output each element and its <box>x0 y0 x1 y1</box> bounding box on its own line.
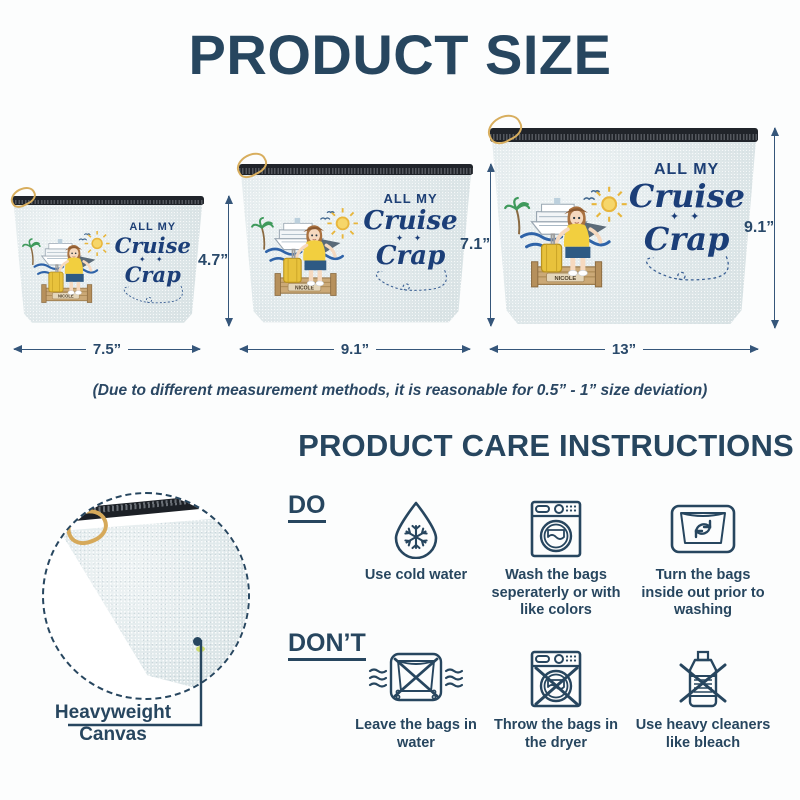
swirl-flourish-icon <box>119 285 187 305</box>
slogan-line-crap: Crap <box>360 243 461 269</box>
dimension-width-medium-label: 9.1” <box>334 341 376 358</box>
product-bag-large: NICOLE <box>484 128 764 326</box>
dimension-arrow-left <box>14 349 86 350</box>
sun-icon <box>85 231 110 256</box>
bag-large-graphic: NICOLE <box>484 128 764 326</box>
zipper-tape-icon <box>490 128 759 142</box>
dimension-arrow-left <box>240 349 334 350</box>
slogan-line-crap: Crap <box>111 264 194 285</box>
bleach-bottle-crossed-icon <box>634 648 772 710</box>
care-do-item-1: Use cold water <box>347 498 485 585</box>
dimension-arrow-right <box>376 349 470 350</box>
dimension-width-small-label: 7.5” <box>86 341 128 358</box>
dimension-height-small-label: 4.7” <box>198 252 228 270</box>
bag-print-design: NICOLE <box>504 156 745 303</box>
palm-tree-icon <box>23 239 40 265</box>
fabric-label: Heavyweight Canvas <box>38 702 188 746</box>
bag-slogan: ALL MY Cruise ✦ ✦ Crap <box>629 162 745 283</box>
palm-tree-icon <box>252 218 273 250</box>
care-dont-caption-2: Throw the bags in the dryer <box>487 717 625 752</box>
bag-print-design: NICOLE <box>251 186 461 304</box>
dimension-width-large-label: 13” <box>605 341 643 358</box>
dock-name-plate: NICOLE <box>295 286 315 292</box>
bag-slogan: ALL MY Cruise ✦ ✦ Crap <box>360 191 461 293</box>
fabric-label-line1: Heavyweight <box>55 702 171 723</box>
swirl-flourish-icon <box>369 269 453 293</box>
care-dont-item-3: Use heavy cleaners like bleach <box>634 648 772 752</box>
turn-inside-out-icon <box>634 498 772 560</box>
bag-medium-graphic: NICOLE <box>234 164 478 324</box>
sun-icon <box>591 186 626 221</box>
bag-in-water-crossed-icon <box>347 648 485 710</box>
slogan-line-cruise: Cruise <box>111 235 194 256</box>
care-do-caption-1: Use cold water <box>347 567 485 585</box>
dimension-width-medium: 9.1” <box>240 340 470 358</box>
swirl-flourish-icon <box>637 255 737 283</box>
cruise-scene-art: NICOLE <box>504 156 629 303</box>
care-do-caption-2: Wash the bags seperaterly or with like c… <box>487 567 625 620</box>
product-bag-small: NICOLE <box>8 196 208 324</box>
care-dont-caption-1: Leave the bags in water <box>347 717 485 752</box>
dimension-height-large-label: 9.1” <box>744 219 774 237</box>
section-title-care-instructions: PRODUCT CARE INSTRUCTIONS <box>292 428 800 464</box>
washing-machine-icon <box>487 498 625 560</box>
care-heading-do: DO <box>288 492 326 523</box>
product-bag-medium: NICOLE <box>234 164 478 324</box>
palm-tree-icon <box>505 198 529 234</box>
bag-print-design: NICOLE <box>22 214 194 309</box>
care-do-item-3: Turn the bags inside out prior to washin… <box>634 498 772 620</box>
care-do-item-2: Wash the bags seperaterly or with like c… <box>487 498 625 620</box>
dimension-arrow-left <box>490 349 605 350</box>
bag-slogan: ALL MY Cruise ✦ ✦ Crap <box>111 218 194 305</box>
dimension-width-small: 7.5” <box>14 340 200 358</box>
page-title-product-size: PRODUCT SIZE <box>0 22 800 87</box>
cruise-scene-art: NICOLE <box>251 186 360 304</box>
slogan-line-all-my: ALL MY <box>383 191 437 206</box>
cruise-scene-art: NICOLE <box>22 214 111 309</box>
dock-name-plate: NICOLE <box>554 276 576 282</box>
size-deviation-disclaimer: (Due to different measurement methods, i… <box>0 382 800 400</box>
zipper-tape-icon <box>239 164 473 175</box>
product-infographic: PRODUCT SIZE <box>0 0 800 800</box>
dimension-arrow-right <box>643 349 758 350</box>
dimension-width-large: 13” <box>490 340 758 358</box>
care-do-caption-3: Turn the bags inside out prior to washin… <box>634 567 772 620</box>
dimension-arrow-right <box>128 349 200 350</box>
slogan-line-all-my: ALL MY <box>129 221 176 233</box>
dryer-crossed-icon <box>487 648 625 710</box>
care-dont-item-1: Leave the bags in water <box>347 648 485 752</box>
fabric-label-line2: Canvas <box>79 724 147 745</box>
dimension-arrow-vertical <box>774 128 792 328</box>
zipper-tape-icon <box>12 196 204 205</box>
dimension-height-large: 9.1” <box>744 128 796 328</box>
fabric-leader-dot <box>193 637 202 646</box>
bag-small-graphic: NICOLE <box>8 196 208 324</box>
water-drop-snowflake-icon <box>347 498 485 560</box>
slogan-line-cruise: Cruise <box>629 180 745 212</box>
slogan-line-crap: Crap <box>629 223 745 255</box>
slogan-line-all-my: ALL MY <box>654 161 719 178</box>
care-dont-caption-3: Use heavy cleaners like bleach <box>634 717 772 752</box>
care-dont-item-2: Throw the bags in the dryer <box>487 648 625 752</box>
slogan-line-cruise: Cruise <box>360 208 461 234</box>
sun-icon <box>327 208 358 239</box>
